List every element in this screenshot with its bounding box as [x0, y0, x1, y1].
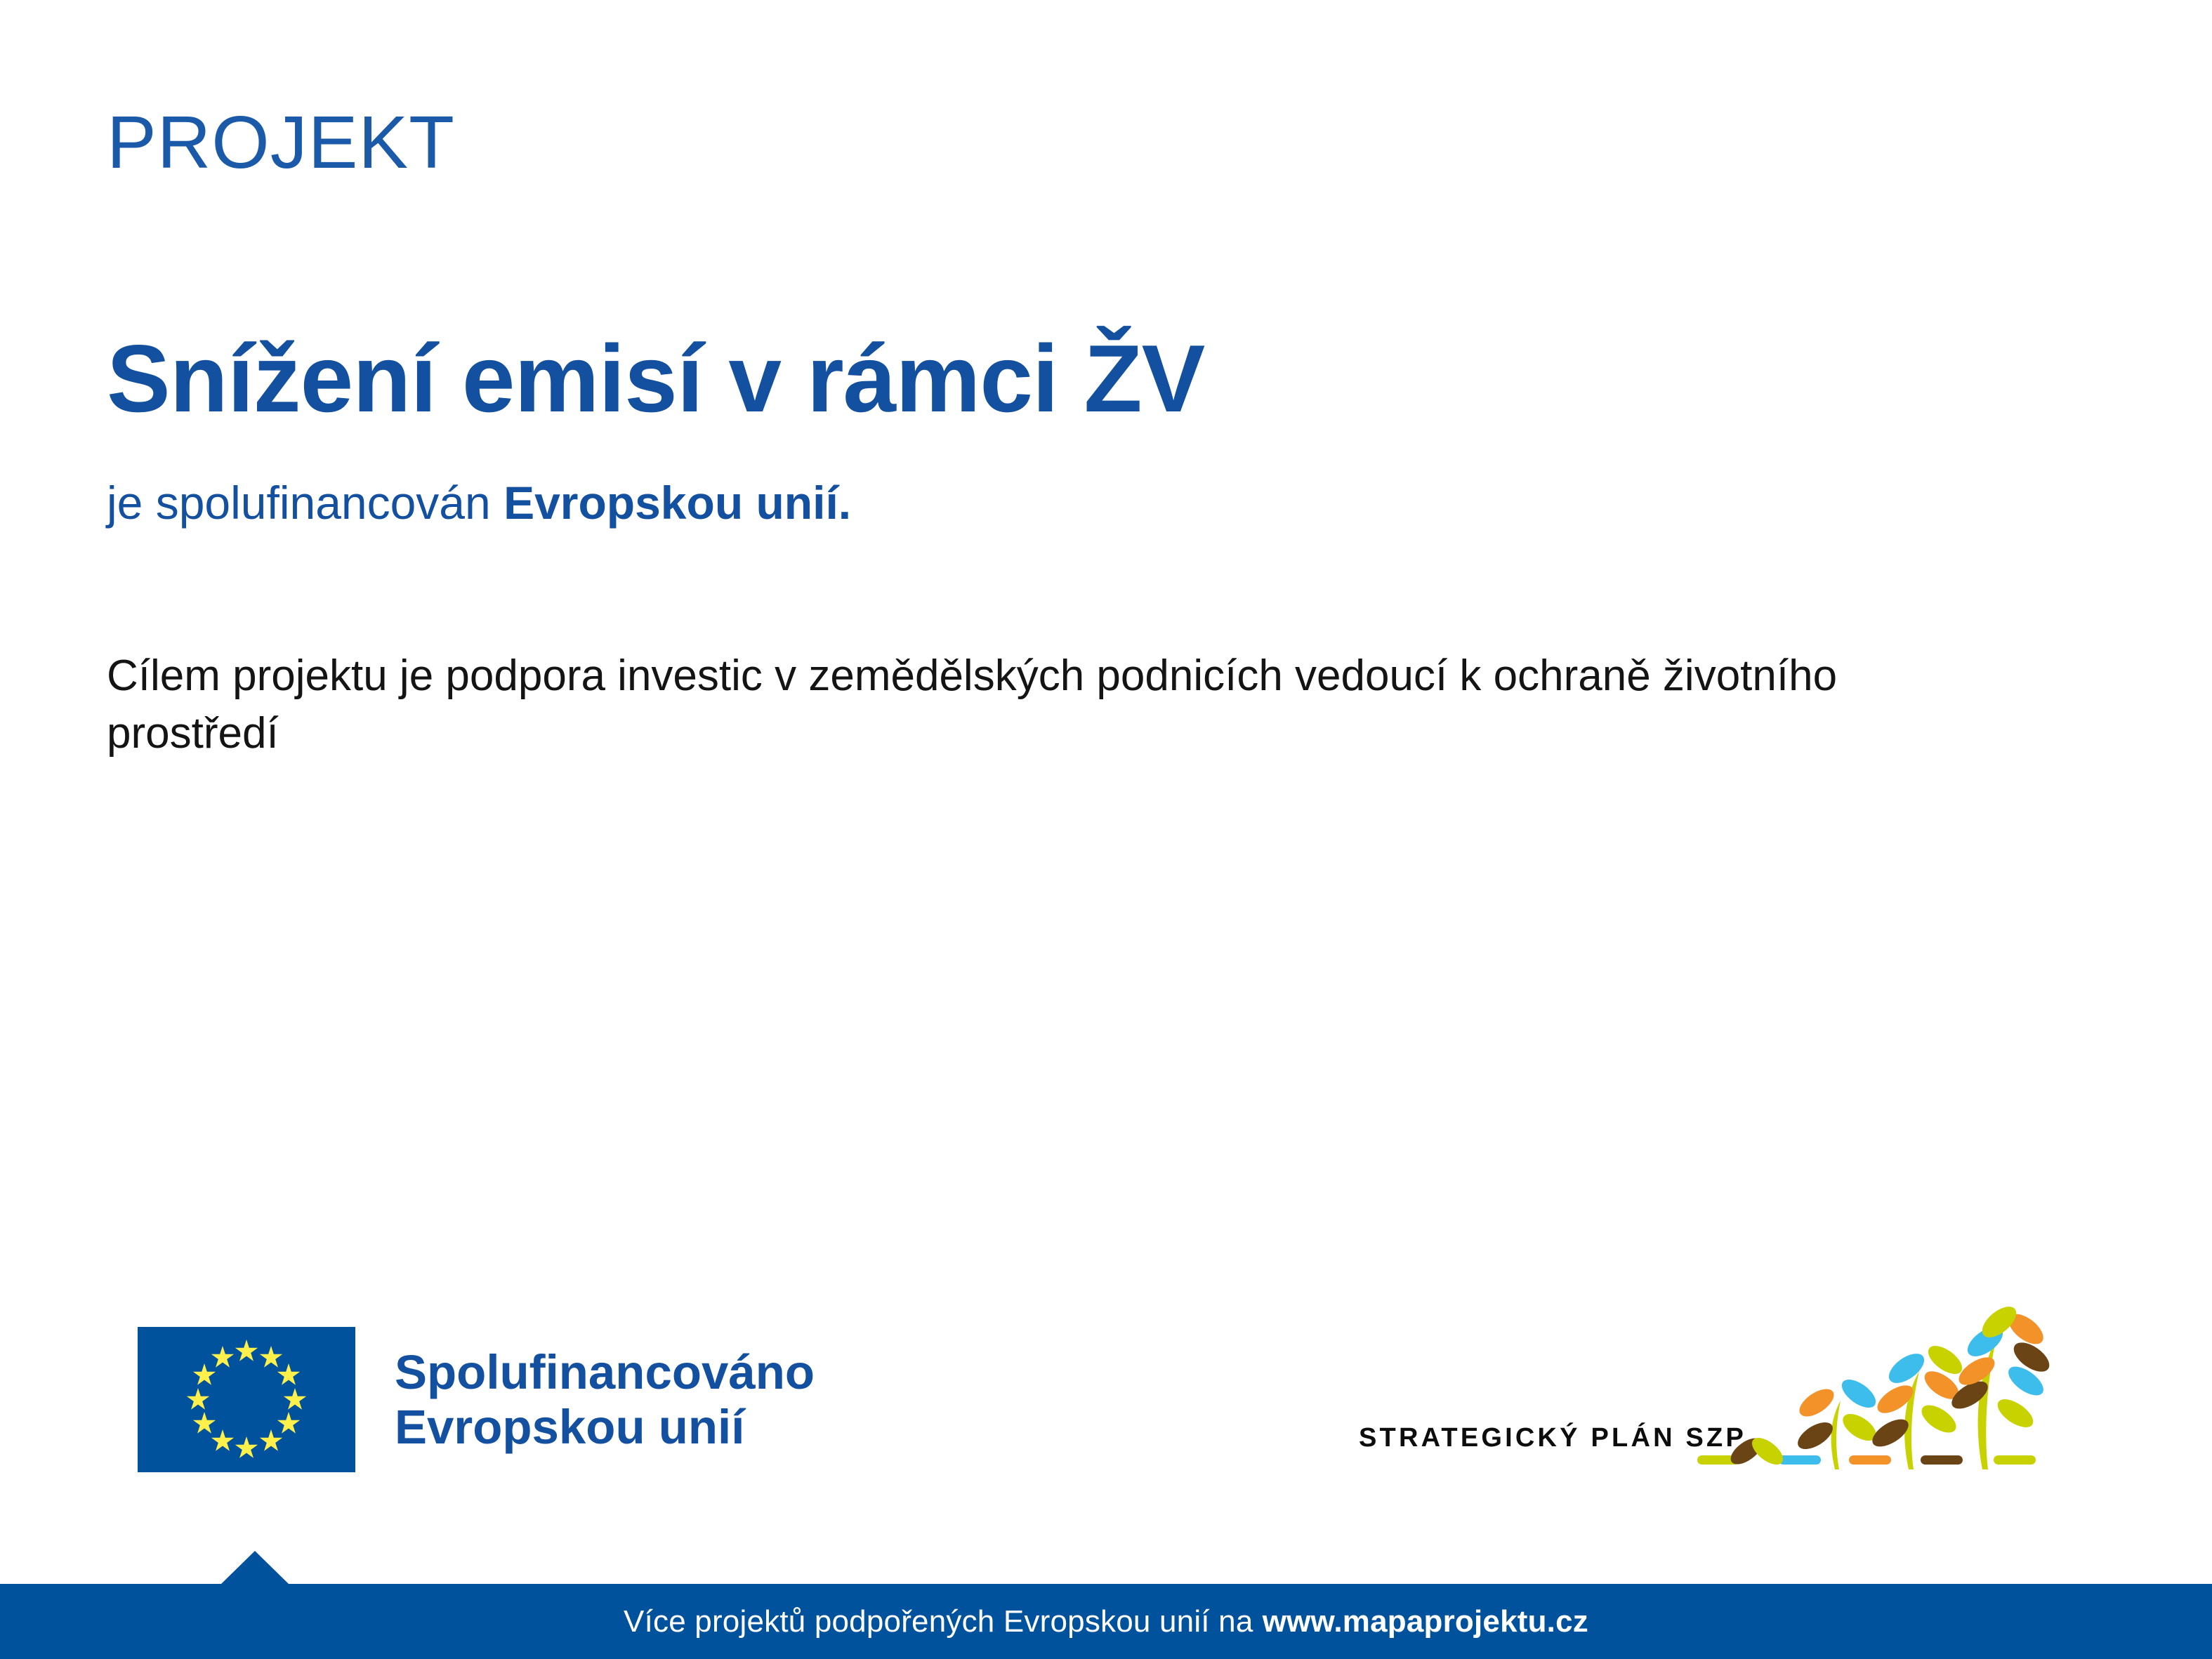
- szp-growing-plants-icon: [1696, 1295, 2061, 1471]
- subline-strong: Evropskou unií.: [503, 477, 851, 529]
- eu-star-icon: [283, 1388, 307, 1412]
- szp-sprout-2: [1793, 1374, 1881, 1469]
- footer-notch-arrow-icon: [221, 1551, 289, 1584]
- footer-text-prefix: Více projektů podpořených Evropskou unií…: [624, 1604, 1253, 1639]
- eu-star-icon: [259, 1429, 283, 1453]
- eu-star-icon: [186, 1388, 210, 1412]
- page-title: Snížení emisí v rámci ŽV: [107, 331, 1204, 426]
- eu-cofunding-logo: Spolufinancováno Evropskou unií: [138, 1327, 815, 1472]
- szp-logo: STRATEGICKÝ PLÁN SZP: [1359, 1295, 2061, 1471]
- eu-caption-line1: Spolufinancováno: [395, 1345, 815, 1399]
- subline-prefix: je spolufinancován: [107, 477, 503, 529]
- poster-subline: je spolufinancován Evropskou unií.: [107, 477, 851, 529]
- szp-logo-label: STRATEGICKÝ PLÁN SZP: [1359, 1423, 1746, 1453]
- eu-star-icon: [211, 1346, 235, 1370]
- footer-bar: Více projektů podpořených Evropskou unií…: [0, 1584, 2212, 1659]
- footer-website-link[interactable]: www.mapaprojektu.cz: [1263, 1604, 1588, 1639]
- eu-star-icon: [277, 1363, 301, 1387]
- eu-star-icon: [235, 1436, 258, 1460]
- szp-sprout-4: [1947, 1301, 2054, 1469]
- poster-kicker: PROJEKT: [107, 104, 455, 182]
- eu-logo-caption: Spolufinancováno Evropskou unií: [395, 1345, 815, 1454]
- eu-flag-icon: [138, 1327, 355, 1472]
- poster-body-text: Cílem projektu je podpora investic v zem…: [107, 647, 2003, 762]
- eu-star-icon: [235, 1340, 258, 1363]
- eu-star-icon: [192, 1412, 216, 1436]
- eu-caption-line2: Evropskou unií: [395, 1400, 815, 1454]
- szp-sprout-3: [1868, 1340, 1967, 1469]
- footer-text: Více projektů podpořených Evropskou unií…: [0, 1584, 2212, 1659]
